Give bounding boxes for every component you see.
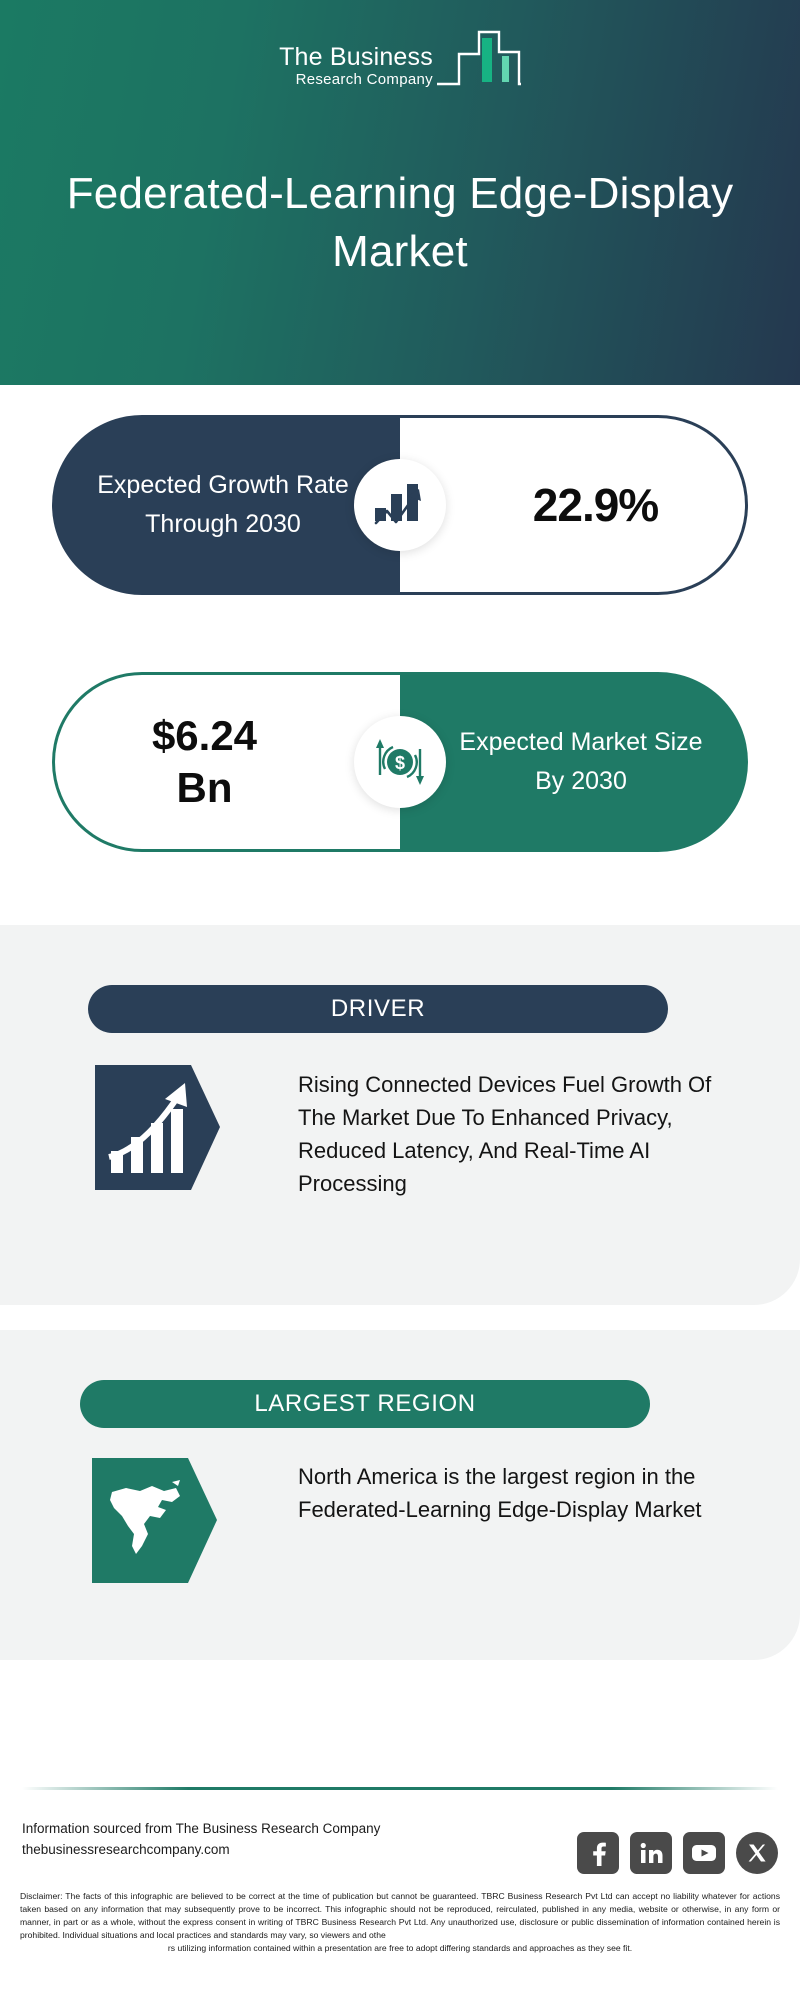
logo-bar-chart-icon [435,26,521,93]
bar-chart-growth-icon [354,459,446,551]
growth-rate-value: 22.9% [533,478,658,532]
driver-heading: DRIVER [88,985,668,1033]
linkedin-icon[interactable] [630,1832,672,1874]
infographic-page: The Business Research Company Federated-… [0,0,800,2000]
page-title: Federated-Learning Edge-Display Market [60,165,740,281]
logo-line-1: The Business [279,45,433,70]
market-size-value: $6.24 Bn [152,710,257,814]
footer-source: Information sourced from The Business Re… [22,1818,462,1860]
panel-driver: DRIVER Rising Connected Devices Fuel Gro… [0,925,800,1305]
growth-rate-value-box: 22.9% [400,415,748,595]
disclaimer-main: Disclaimer: The facts of this infographi… [20,1891,780,1940]
driver-body: Rising Connected Devices Fuel Growth Of … [298,1068,718,1200]
growth-rate-label: Expected Growth Rate Through 2030 [52,415,400,595]
company-logo: The Business Research Company [0,26,800,93]
x-twitter-icon[interactable] [736,1832,778,1874]
largest-region-body: North America is the largest region in t… [298,1460,718,1526]
market-size-value-line1: $6.24 [152,712,257,759]
dollar-cycle-icon: $ [354,716,446,808]
footer-source-line-1: Information sourced from The Business Re… [22,1818,462,1839]
largest-region-heading: LARGEST REGION [80,1380,650,1428]
footer-website-link[interactable]: thebusinessresearchcompany.com [22,1839,462,1860]
svg-text:$: $ [395,753,405,773]
youtube-icon[interactable] [683,1832,725,1874]
logo-line-2: Research Company [296,70,433,89]
panel-largest-region: LARGEST REGION North America is the larg… [0,1330,800,1660]
footer-divider [22,1787,778,1790]
market-size-label: Expected Market Size By 2030 [400,672,748,852]
hero-banner: The Business Research Company Federated-… [0,0,800,385]
social-links [577,1832,778,1874]
market-size-value-box: $6.24 Bn [52,672,400,852]
growth-arrow-icon [95,1065,220,1190]
north-america-map-icon [92,1458,217,1583]
stat-card-growth-rate: Expected Growth Rate Through 2030 22.9% [52,415,748,595]
disclaimer-text: Disclaimer: The facts of this infographi… [20,1890,780,1955]
disclaimer-last-line: rs utilizing information contained withi… [20,1942,780,1955]
market-size-value-line2: Bn [176,764,232,811]
stat-card-market-size: $6.24 Bn Expected Market Size By 2030 $ [52,672,748,852]
facebook-icon[interactable] [577,1832,619,1874]
